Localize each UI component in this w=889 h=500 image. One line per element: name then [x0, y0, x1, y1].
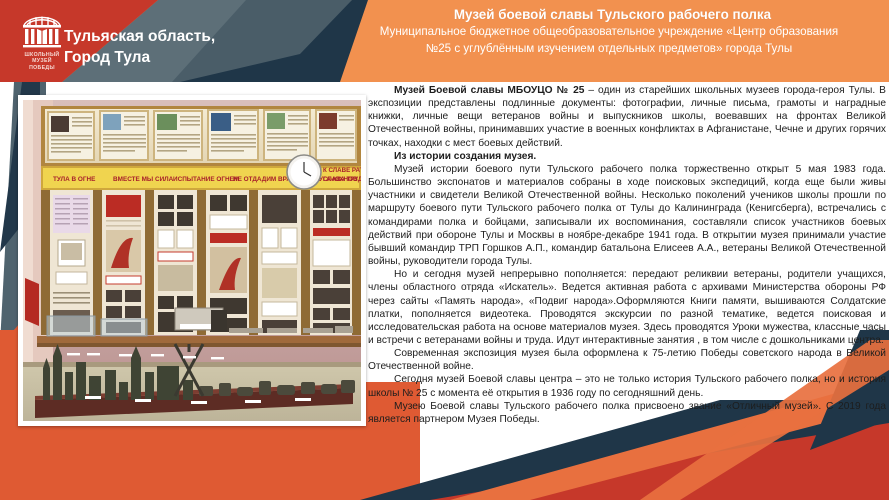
article-body: Музей Боевой славы МБОУЦО № 25 – один из… — [368, 84, 886, 496]
article-lead-bold: Музей Боевой славы МБОУЦО № 25 — [394, 85, 584, 96]
article-paragraph-5: Музею Боевой славы Тульского рабочего по… — [368, 400, 886, 426]
article-section-heading: Из истории создания музея. — [368, 150, 886, 163]
logo-text: ШКОЛЬНЫЙ МУЗЕЙ ПОБЕДЫ — [24, 52, 59, 71]
museum-photo-frame: ТУЛА В ОГНЕ ВМЕСТЕ МЫ СИЛА ИСПЫТАНИЕ ОГН… — [18, 95, 366, 426]
region-label: Тульяская область, Город Тула — [64, 26, 324, 68]
subtitle-line-2: №25 с углублённым изучением отдельных пр… — [330, 41, 888, 58]
article-lead: Музей Боевой славы МБОУЦО № 25 – один из… — [368, 84, 886, 150]
slide-canvas: ШКОЛЬНЫЙ МУЗЕЙ ПОБЕДЫ Тульяская область,… — [0, 0, 889, 500]
svg-text:ТУЛА В ОГНЕ: ТУЛА В ОГНЕ — [53, 176, 96, 183]
svg-text:ИСПЫТАНИЕ ОГНЕМ: ИСПЫТАНИЕ ОГНЕМ — [173, 176, 239, 183]
svg-text:К СЛАВЕ РАТНОЙ-: К СЛАВЕ РАТНОЙ- — [323, 166, 361, 174]
article-paragraph-4: Сегодня музей Боевой славы центра – это … — [368, 373, 886, 399]
museum-logo: ШКОЛЬНЫЙ МУЗЕЙ ПОБЕДЫ — [16, 12, 68, 72]
article-paragraph-1: Музей истории боевого пути Тульского раб… — [368, 163, 886, 268]
region-line-1: Тульяская область, — [64, 26, 324, 47]
svg-text:ВМЕСТЕ МЫ СИЛА: ВМЕСТЕ МЫ СИЛА — [113, 176, 174, 183]
victory-museum-building-icon — [20, 12, 64, 50]
page-subtitle: Муниципальное бюджетное общеобразователь… — [330, 24, 888, 57]
subtitle-line-1: Муниципальное бюджетное общеобразователь… — [330, 24, 888, 41]
article-paragraph-3: Современная экспозиция музея была оформл… — [368, 347, 886, 373]
article-paragraph-2: Но и сегодня музей непрерывно пополняетс… — [368, 268, 886, 347]
region-line-2: Город Тула — [64, 47, 324, 68]
museum-exposition-illustration: ТУЛА В ОГНЕ ВМЕСТЕ МЫ СИЛА ИСПЫТАНИЕ ОГН… — [23, 100, 361, 421]
svg-text:СЛАВА ТРУДОВАЯ: СЛАВА ТРУДОВАЯ — [323, 176, 361, 183]
museum-exposition-photo: ТУЛА В ОГНЕ ВМЕСТЕ МЫ СИЛА ИСПЫТАНИЕ ОГН… — [23, 100, 361, 421]
page-title: Музей боевой славы Тульского рабочего по… — [340, 6, 885, 23]
